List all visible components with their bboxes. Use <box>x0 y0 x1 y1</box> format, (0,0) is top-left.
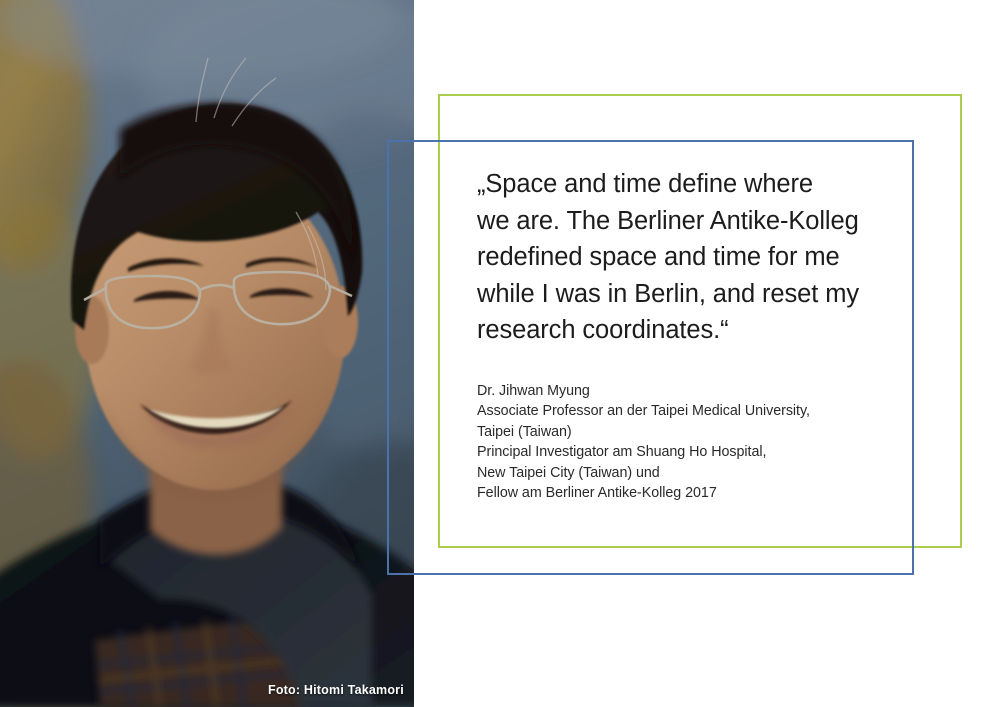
photo-credit: Foto: Hitomi Takamori <box>268 683 404 697</box>
quote-page: Foto: Hitomi Takamori „Space and time de… <box>0 0 1000 707</box>
attribution-line-city: Taipei (Taiwan) <box>477 422 897 443</box>
portrait-illustration <box>0 0 414 707</box>
attribution-line-role: Associate Professor an der Taipei Medica… <box>477 401 897 422</box>
portrait-photo: Foto: Hitomi Takamori <box>0 0 414 707</box>
quote-text-block: „Space and time define where we are. The… <box>477 166 897 504</box>
attribution-block: Dr. Jihwan Myung Associate Professor an … <box>477 381 897 505</box>
attribution-line-city2: New Taipei City (Taiwan) und <box>477 463 897 484</box>
attribution-line-name: Dr. Jihwan Myung <box>477 381 897 402</box>
attribution-line-investigator: Principal Investigator am Shuang Ho Hosp… <box>477 442 897 463</box>
attribution-line-fellow: Fellow am Berliner Antike-Kolleg 2017 <box>477 483 897 504</box>
quote-text: „Space and time define where we are. The… <box>477 166 897 349</box>
